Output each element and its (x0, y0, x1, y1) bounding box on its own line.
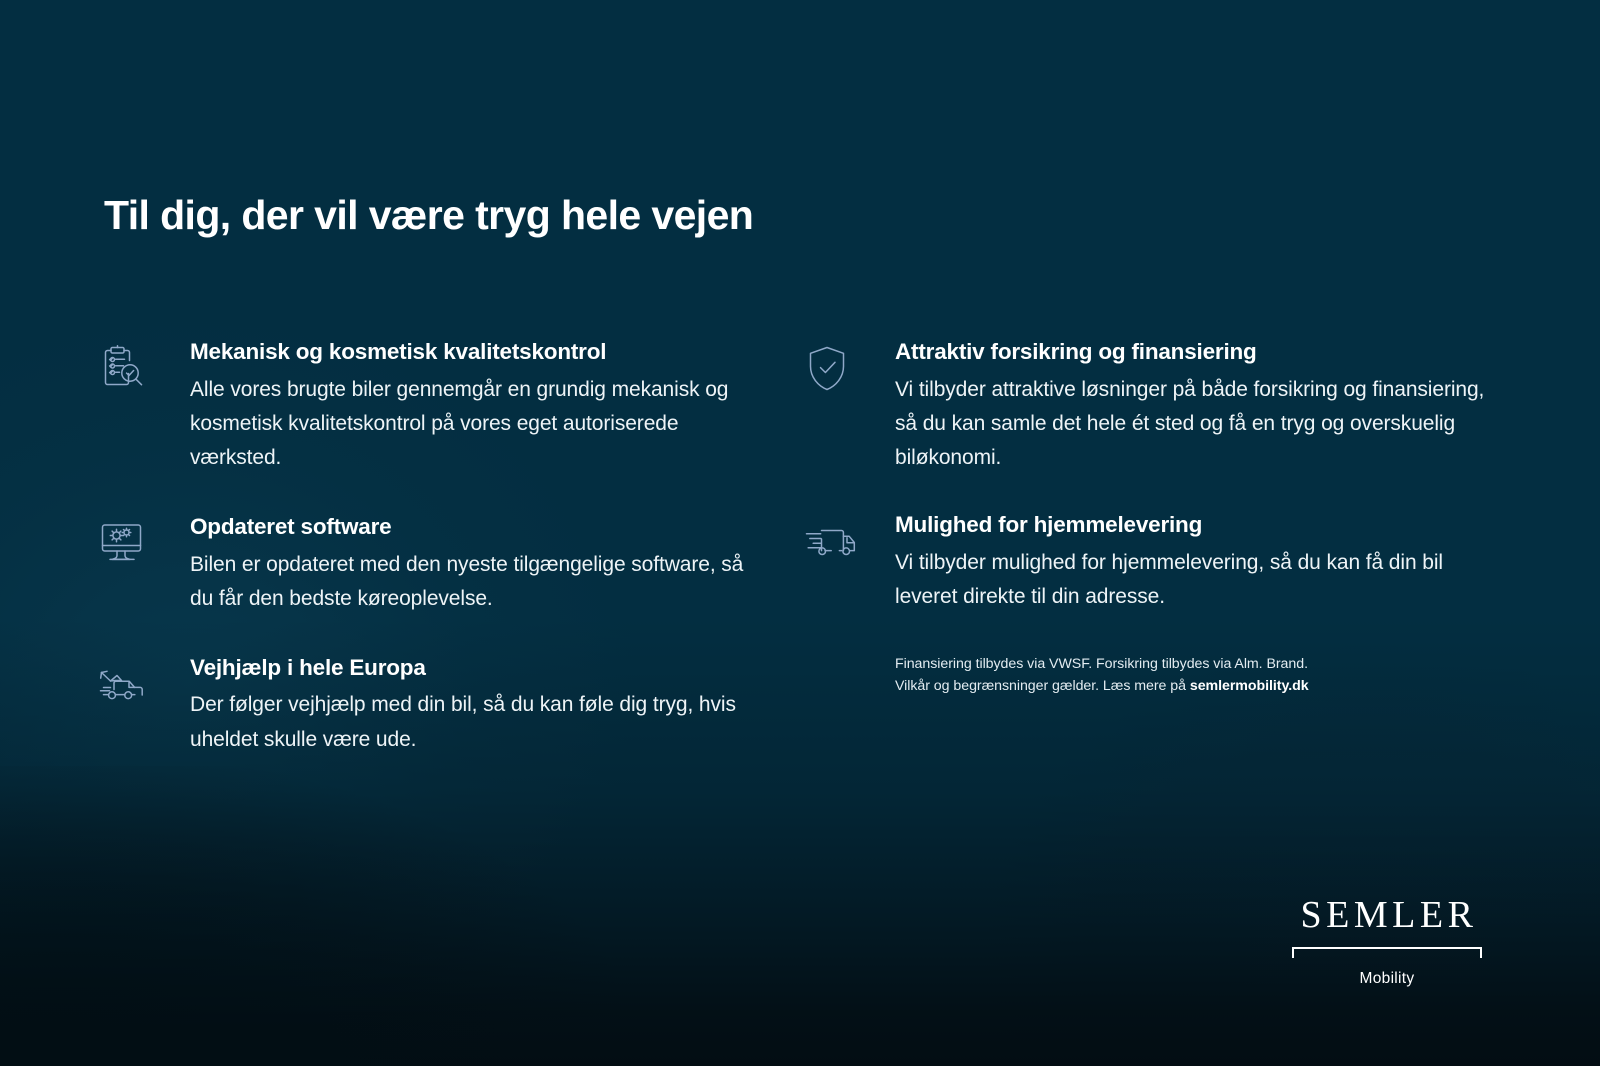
feature-description: Der følger vejhjælp med din bil, så du k… (190, 688, 748, 756)
monitor-gears-icon (98, 515, 160, 567)
logo-wordmark: SEMLER (1292, 896, 1482, 934)
promo-panel: Til dig, der vil være tryg hele vejen (0, 0, 1600, 1066)
feature-title: Mekanisk og kosmetisk kvalitetskontrol (190, 340, 748, 365)
semlermobility-link[interactable]: semlermobility.dk (1190, 678, 1309, 694)
feature-text-block: Mulighed for hjemmelevering Vi tilbyder … (865, 513, 1503, 614)
feature-description: Vi tilbyder mulighed for hjemmelevering,… (895, 546, 1503, 614)
feature-description: Alle vores brugte biler gennemgår en gru… (190, 373, 748, 476)
feature-item-insurance-financing: Attraktiv forsikring og finansiering Vi … (803, 340, 1503, 475)
logo-divider-bar (1292, 947, 1482, 949)
feature-description: Bilen er opdateret med den nyeste tilgæn… (190, 548, 748, 616)
feature-text-block: Mekanisk og kosmetisk kvalitetskontrol A… (160, 340, 748, 475)
feature-column-right: Attraktiv forsikring og finansiering Vi … (803, 340, 1503, 697)
feature-item-roadside-assistance: Vejhjælp i hele Europa Der følger vejhjæ… (98, 656, 748, 757)
legal-disclaimer: Finansiering tilbydes via VWSF. Forsikri… (803, 653, 1503, 697)
feature-description: Vi tilbyder attraktive løsninger på både… (895, 373, 1503, 476)
feature-text-block: Vejhjælp i hele Europa Der følger vejhjæ… (160, 656, 748, 757)
feature-title: Vejhjælp i hele Europa (190, 656, 748, 681)
feature-text-block: Opdateret software Bilen er opdateret me… (160, 515, 748, 616)
feature-item-home-delivery: Mulighed for hjemmelevering Vi tilbyder … (803, 513, 1503, 614)
feature-title: Attraktiv forsikring og finansiering (895, 340, 1503, 365)
feature-text-block: Attraktiv forsikring og finansiering Vi … (865, 340, 1503, 475)
clipboard-checklist-magnifier-icon (98, 340, 160, 392)
disclaimer-line-1: Finansiering tilbydes via VWSF. Forsikri… (895, 653, 1503, 675)
page-title: Til dig, der vil være tryg hele vejen (104, 192, 753, 239)
logo-divider (1292, 947, 1482, 961)
feature-item-updated-software: Opdateret software Bilen er opdateret me… (98, 515, 748, 616)
semler-mobility-logo: SEMLER Mobility (1292, 896, 1482, 988)
disclaimer-line-2-text: Vilkår og begrænsninger gælder. Læs mere… (895, 678, 1190, 694)
tow-truck-icon (98, 656, 160, 708)
shield-check-icon (803, 340, 865, 392)
logo-divider-tick-left (1292, 947, 1294, 958)
delivery-truck-icon (803, 513, 865, 565)
logo-divider-tick-right (1480, 947, 1482, 958)
logo-subtitle: Mobility (1292, 970, 1482, 988)
feature-title: Opdateret software (190, 515, 748, 540)
feature-column-left: Mekanisk og kosmetisk kvalitetskontrol A… (98, 340, 748, 795)
feature-title: Mulighed for hjemmelevering (895, 513, 1503, 538)
feature-item-quality-control: Mekanisk og kosmetisk kvalitetskontrol A… (98, 340, 748, 475)
disclaimer-line-2: Vilkår og begrænsninger gælder. Læs mere… (895, 675, 1503, 697)
